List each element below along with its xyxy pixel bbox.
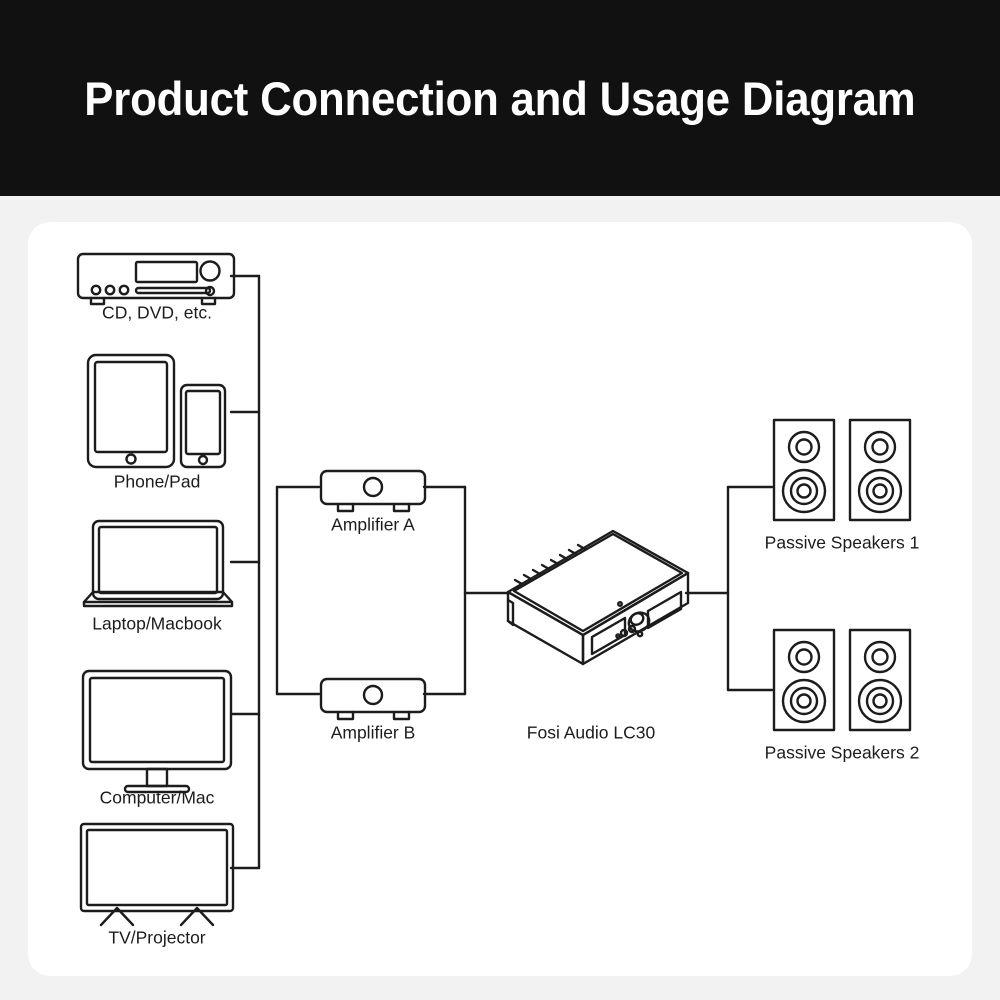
label-amplifier-a: Amplifier A (331, 515, 415, 536)
label-tv-projector: TV/Projector (108, 928, 205, 949)
label-passive-speakers-1: Passive Speakers 1 (765, 533, 920, 554)
label-passive-speakers-2: Passive Speakers 2 (765, 743, 920, 764)
diagram-card (28, 222, 972, 976)
label-laptop: Laptop/Macbook (92, 614, 221, 635)
label-cd-dvd: CD, DVD, etc. (102, 303, 212, 324)
label-phone-pad: Phone/Pad (114, 472, 201, 493)
label-fosi-audio-lc30: Fosi Audio LC30 (527, 723, 655, 744)
label-computer: Computer/Mac (100, 788, 215, 809)
label-amplifier-b: Amplifier B (331, 723, 416, 744)
page-root: Product Connection and Usage Diagram (0, 0, 1000, 1000)
page-title: Product Connection and Usage Diagram (84, 71, 915, 126)
page-header: Product Connection and Usage Diagram (0, 0, 1000, 196)
